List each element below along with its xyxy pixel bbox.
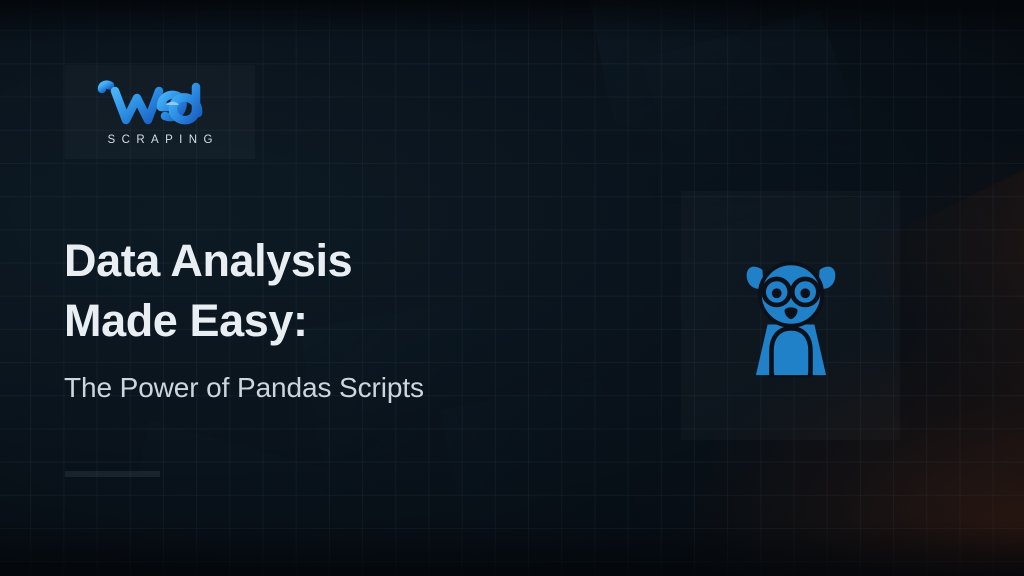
iweb-logo-icon (93, 79, 227, 127)
background-top-fade (0, 0, 1024, 42)
page-subtitle: The Power of Pandas Scripts (64, 370, 424, 406)
graphic-panel (681, 191, 900, 440)
brand-tagline: SCRAPING (101, 134, 219, 146)
page-title: Data Analysis Made Easy: (64, 231, 544, 351)
page-title-line-2: Made Easy: (64, 291, 544, 351)
brand-logo: SCRAPING (65, 65, 255, 159)
accent-bar (65, 471, 160, 477)
page-title-line-1: Data Analysis (64, 231, 544, 291)
background-bottom-fade (0, 520, 1024, 576)
panda-icon (739, 246, 843, 386)
title-slide: SCRAPING Data Analysis Made Easy: The Po… (0, 0, 1024, 576)
